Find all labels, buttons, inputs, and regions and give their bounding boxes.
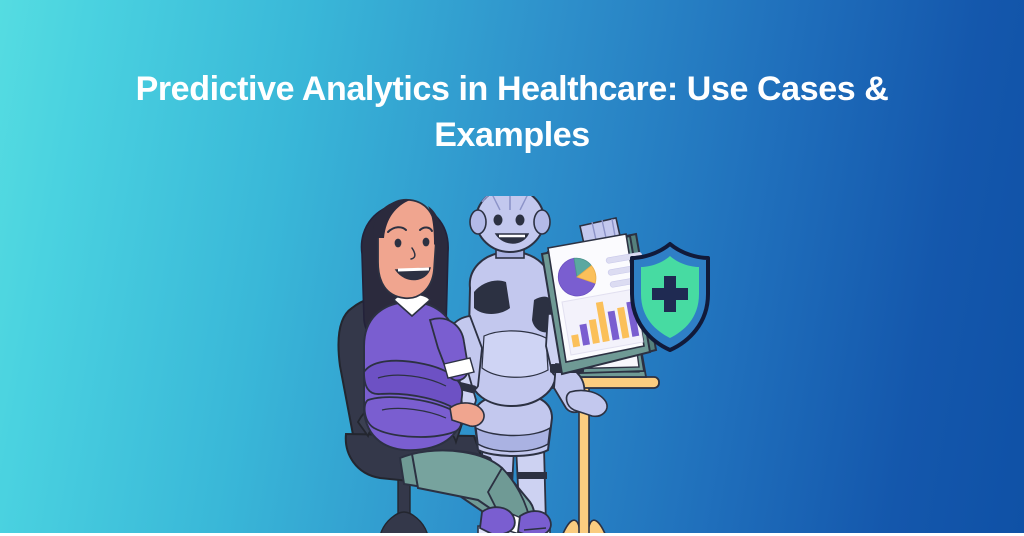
healthcare-ai-illustration [334,196,734,533]
title-container: Predictive Analytics in Healthcare: Use … [102,66,922,158]
robot-head [470,196,550,252]
page-title: Predictive Analytics in Healthcare: Use … [102,66,922,158]
banner: Predictive Analytics in Healthcare: Use … [0,0,1024,533]
woman-face [373,200,441,298]
